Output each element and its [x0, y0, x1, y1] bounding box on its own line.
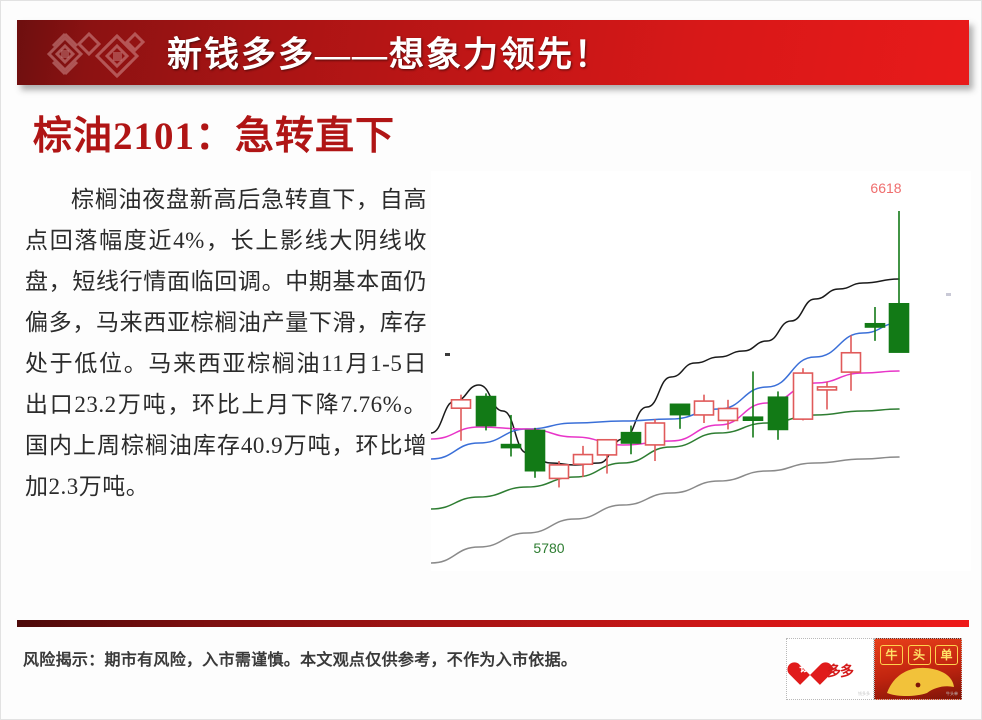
candle-3 [526, 428, 545, 478]
left-tick-marker [445, 353, 450, 356]
footer-divider [17, 620, 969, 627]
bull-char-0: 牛 [880, 645, 903, 665]
chart-label-period-low: 5780 [533, 540, 564, 556]
candle-14 [794, 368, 813, 420]
qiandouduo-logo[interactable]: 钱 多多 钱多多 [786, 638, 874, 700]
niutoudan-chars: 牛 头 单 [880, 645, 958, 665]
bull-head-icon [885, 663, 955, 697]
chart-label-period-high: 6618 [870, 180, 901, 196]
bull-char-1: 头 [908, 645, 931, 665]
qiandouduo-heart-char: 钱 [799, 658, 811, 675]
article-paragraph: 棕榈油夜盘新高后急转直下，自高点回落幅度近4%，长上影线大阴线收盘，短线行情面临… [25, 179, 427, 507]
right-dot-marker [946, 293, 951, 296]
qiandouduo-logo-caption: 钱多多 [858, 691, 870, 697]
qiandouduo-logo-text: 多多 [827, 661, 853, 681]
candlestick-chart: 66185780 [431, 171, 971, 571]
page-title: 棕油2101：急转直下 [33, 105, 395, 161]
slide-page: 新钱多多——想象力领先！ 棕油2101：急转直下 棕榈油夜盘新高后急转直下，自高… [0, 0, 982, 720]
risk-disclaimer: 风险揭示：期市有风险，入市需谨慎。本文观点仅供参考，不作为入市依据。 [23, 646, 577, 670]
article-body: 棕榈油夜盘新高后急转直下，自高点回落幅度近4%，长上影线大阴线收盘，短线行情面临… [25, 179, 427, 507]
candle-1 [477, 393, 496, 430]
chinese-knot-lattice-pattern-icon [31, 24, 159, 82]
banner-title: 新钱多多——想象力领先！ [167, 26, 611, 77]
footer-logos: 钱 多多 钱多多 牛 头 单 牛头单 [786, 638, 962, 700]
bull-char-2: 单 [935, 645, 958, 665]
header-banner: 新钱多多——想象力领先！ [17, 20, 969, 85]
niutoudan-logo[interactable]: 牛 头 单 牛头单 [874, 638, 962, 700]
candlestick-chart-svg: 66185780 [431, 171, 971, 571]
